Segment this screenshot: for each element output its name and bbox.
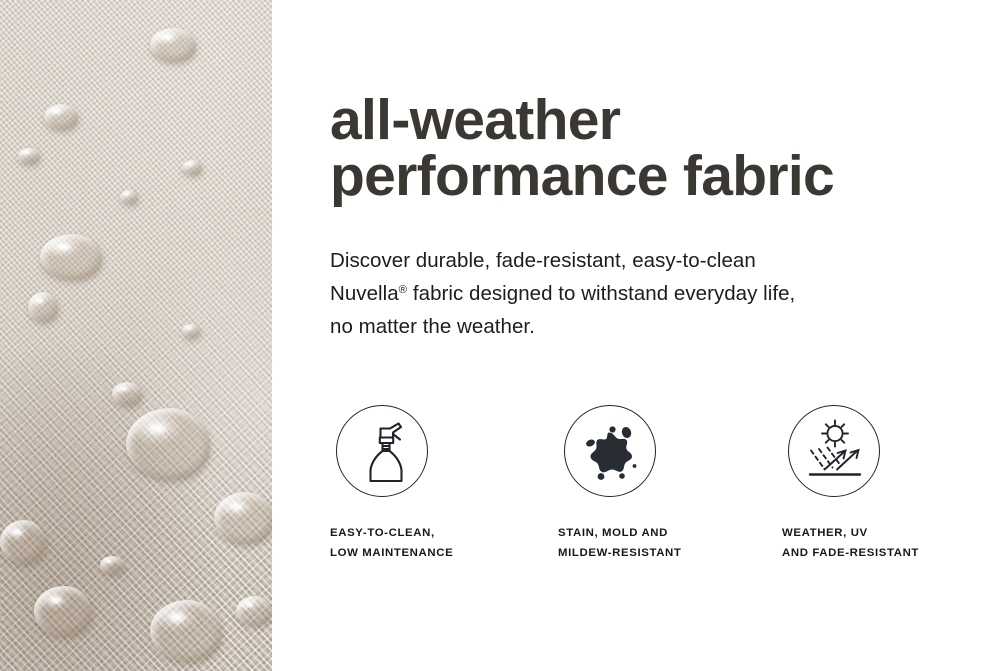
description-line-1-text: Discover durable, fade-resistant, easy-t… [330,249,756,272]
feature-caption-stain-resistant: STAIN, MOLD AND MILDEW-RESISTANT [558,497,748,563]
water-droplet [182,324,200,338]
feature-caption-line: STAIN, MOLD AND [558,524,748,544]
water-droplet [214,492,272,544]
fabric-shading-overlay [0,0,272,671]
water-droplet [44,104,78,130]
fabric-photo-panel [0,0,272,671]
brand-name: Nuvella [330,282,399,305]
feature-item-stain-resistant: STAIN, MOLD AND MILDEW-RESISTANT [558,405,748,563]
description-line-3: no matter the weather. [330,310,940,343]
spray-bottle-icon [336,405,428,497]
water-droplet [150,28,196,62]
feature-item-weather-resistant: WEATHER, UV AND FADE-RESISTANT [782,405,982,563]
registered-trademark-symbol: ® [399,284,408,296]
water-droplet [0,520,46,564]
description-line-1: Discover durable, fade-resistant, easy-t… [330,244,940,277]
description-line-3-text: no matter the weather. [330,315,535,338]
sun-uv-reflect-icon [788,405,880,497]
feature-caption-line: EASY-TO-CLEAN, [330,524,520,544]
description-line-2: Nuvella® fabric designed to withstand ev… [330,277,940,310]
description-line-2-text: fabric designed to withstand everyday li… [407,282,795,305]
water-droplet [28,292,58,322]
feature-caption-easy-to-clean: EASY-TO-CLEAN, LOW MAINTENANCE [330,497,520,563]
headline-line-1: all-weather [330,92,970,148]
water-droplet [150,600,222,662]
water-droplet [126,408,210,480]
description-text: Discover durable, fade-resistant, easy-t… [330,244,940,344]
feature-caption-line: MILDEW-RESISTANT [558,544,748,564]
water-droplet [120,190,138,204]
promo-banner: all-weather performance fabric Discover … [0,0,1005,671]
feature-caption-weather-resistant: WEATHER, UV AND FADE-RESISTANT [782,497,982,563]
stain-splat-icon [564,405,656,497]
headline-line-2: performance fabric [330,148,970,204]
water-droplet [18,148,40,164]
water-droplet [182,160,202,175]
water-droplet [112,382,142,406]
water-droplet [236,596,272,626]
water-droplet [100,556,124,574]
feature-caption-line: LOW MAINTENANCE [330,544,520,564]
page-title: all-weather performance fabric [330,92,970,205]
content-column: all-weather performance fabric Discover … [330,0,975,671]
feature-caption-line: WEATHER, UV [782,524,982,544]
water-droplet [34,586,92,636]
feature-item-easy-to-clean: EASY-TO-CLEAN, LOW MAINTENANCE [330,405,520,563]
feature-caption-line: AND FADE-RESISTANT [782,544,982,564]
water-droplet [40,234,102,280]
feature-list: EASY-TO-CLEAN, LOW MAINTENANCE [330,405,975,575]
